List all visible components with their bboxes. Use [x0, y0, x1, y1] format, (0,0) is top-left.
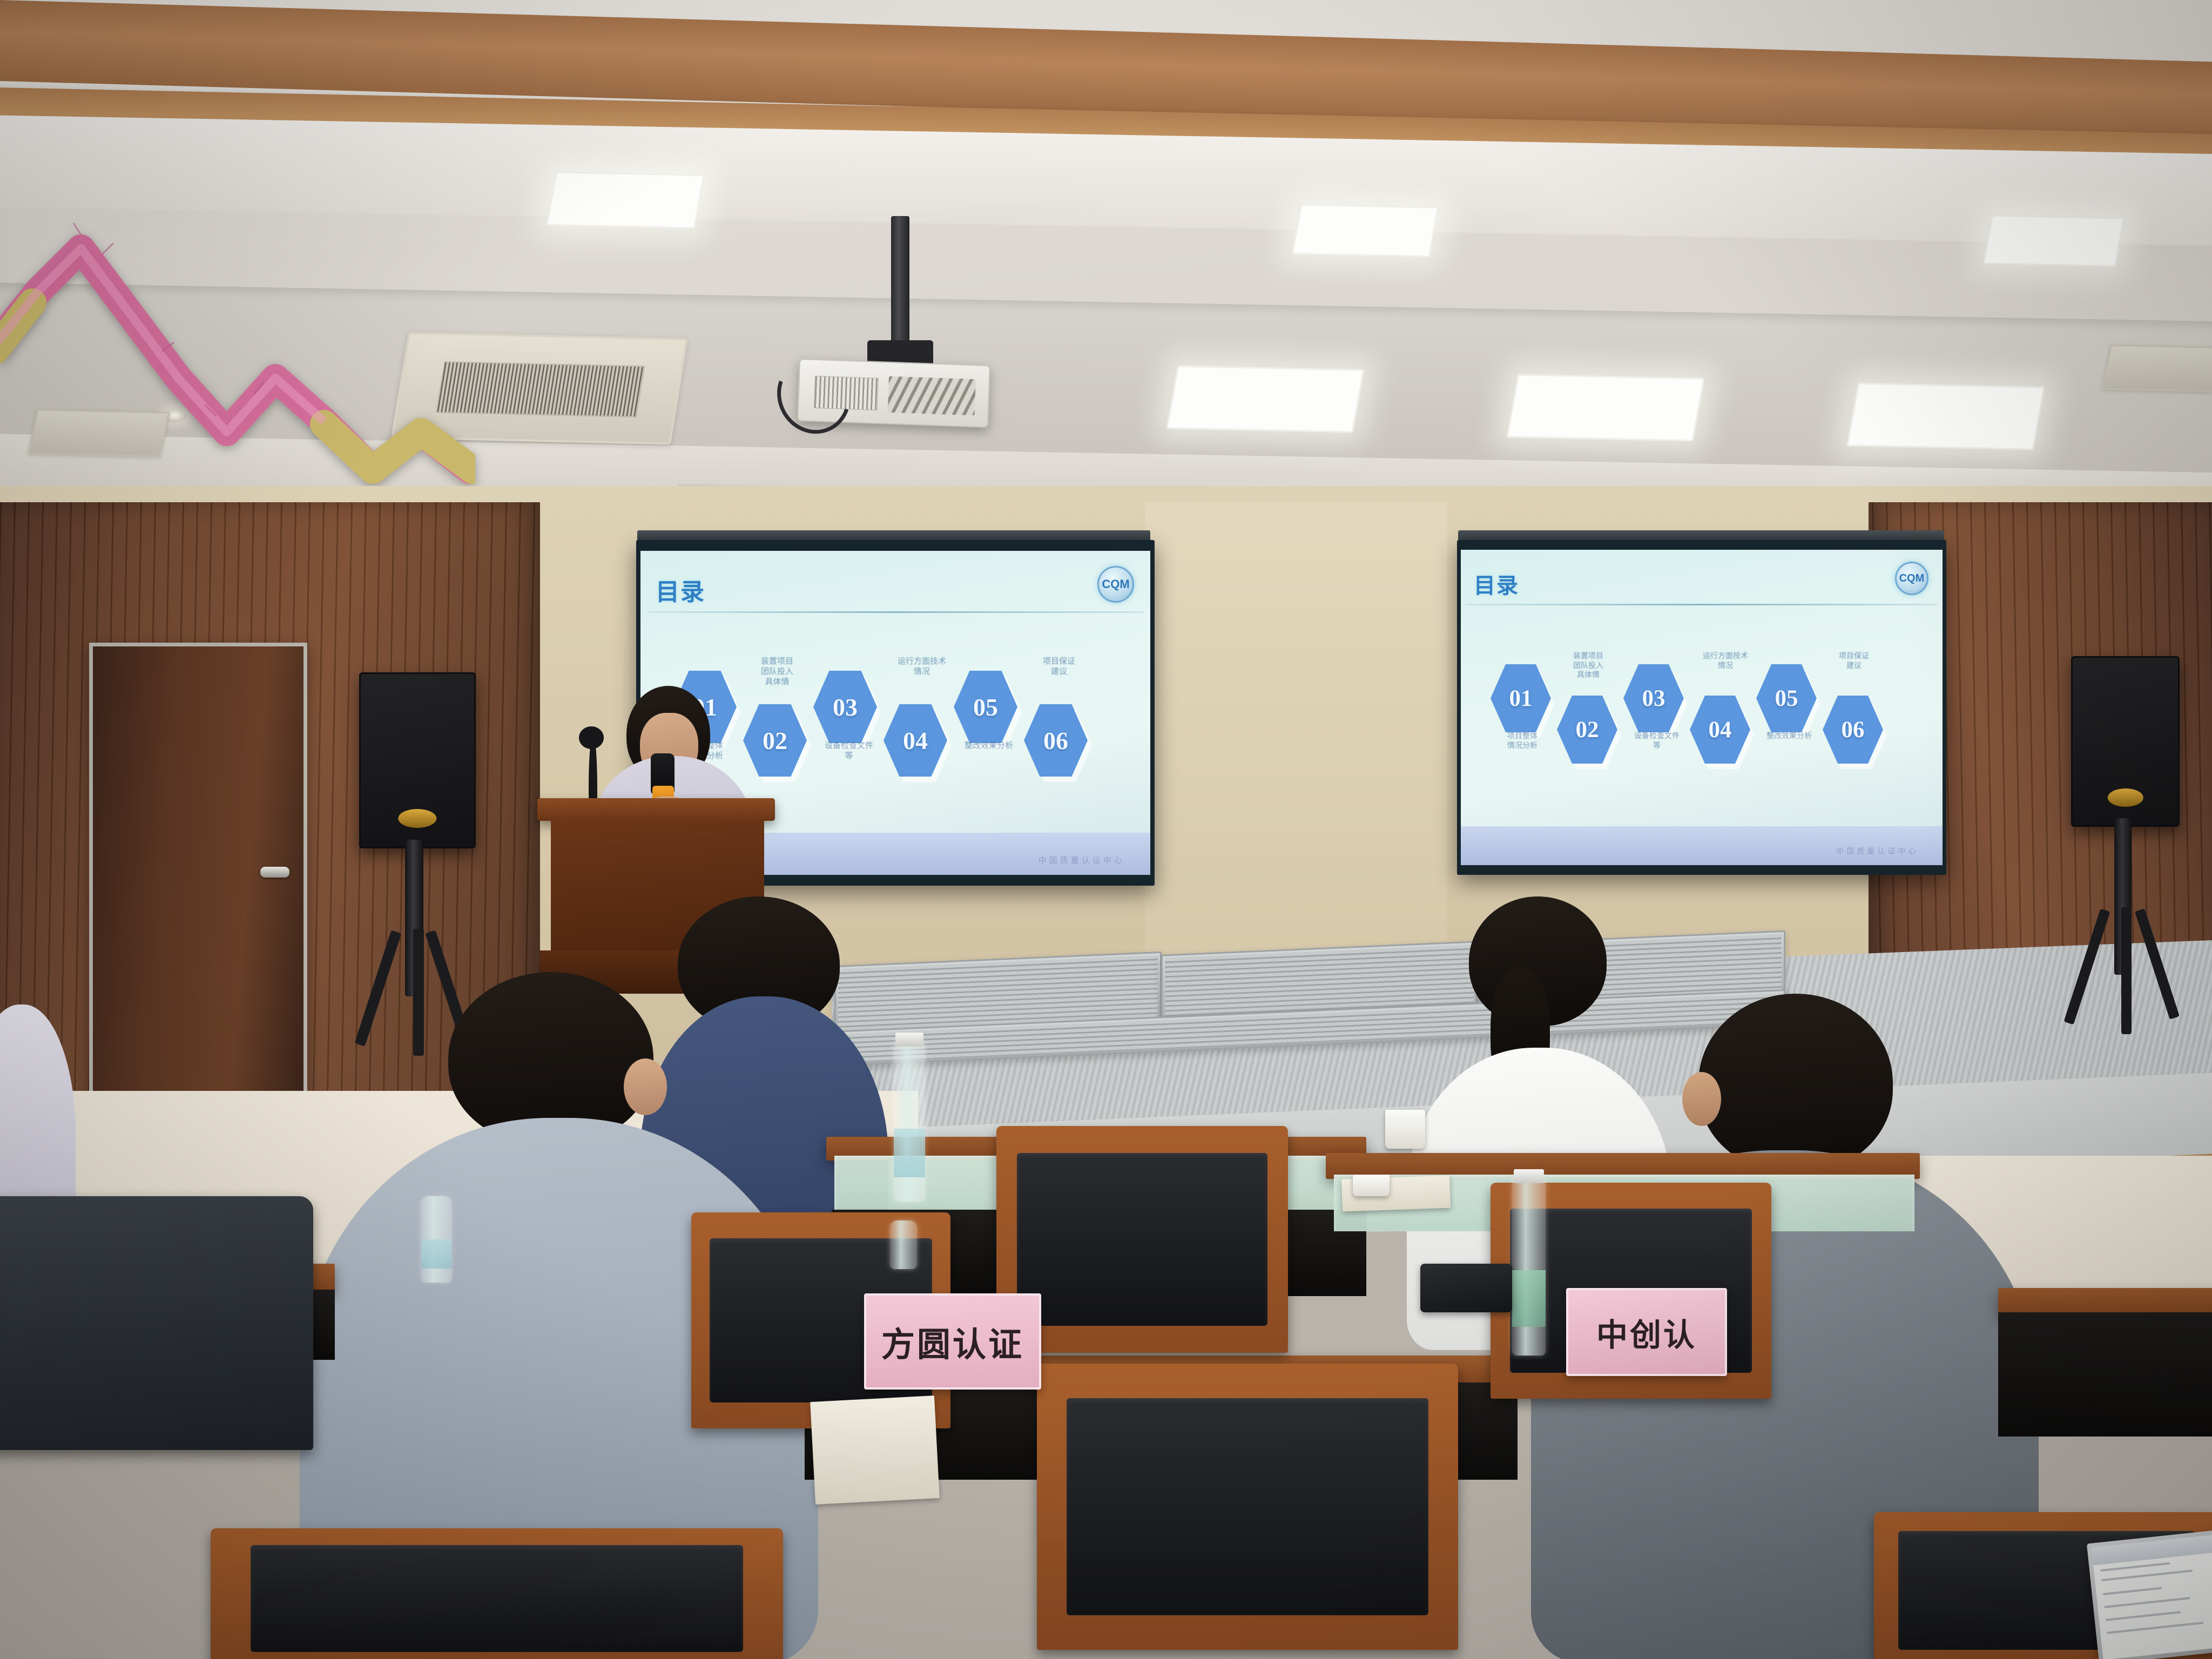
bottle-label	[894, 1129, 925, 1177]
meeting-table-right	[1998, 1288, 2212, 1315]
attendee-ear	[624, 1058, 667, 1115]
attendee-ear	[1682, 1072, 1721, 1126]
pa-speaker-stand-leg	[413, 929, 424, 1056]
chair-backrest-pad	[1067, 1398, 1429, 1616]
hex-label-02-mirror: 装置项目 团队投入 具体情	[1550, 651, 1626, 680]
podium-mic-head	[579, 726, 604, 749]
water-bottle[interactable]	[894, 1040, 925, 1202]
projection-screen-right: 目录 CQM 01 项目整体 情况分析 02 装置项目 团队投入 具体情 03	[1457, 540, 1946, 875]
ceiling-led-panel	[1983, 215, 2125, 267]
tea-cup[interactable]	[1385, 1110, 1425, 1149]
hex-label-01-mirror: 项目整体 情况分析	[1485, 731, 1560, 750]
hex-label-02: 装置项目 团队投入 具体情	[737, 657, 818, 687]
laptop-icon[interactable]	[2087, 1530, 2212, 1659]
ceiling-led-panel	[1292, 204, 1439, 257]
nameplate-zhongchuang: 中创认	[1566, 1288, 1727, 1376]
hex-label-04: 运行方面技术 情况	[876, 657, 968, 677]
hex-label-03: 设备检查文件 等	[806, 741, 892, 761]
water-bottle[interactable]	[890, 1220, 917, 1269]
tea-cup[interactable]	[1353, 1175, 1390, 1196]
nameplate-fangyuan: 方圆认证	[864, 1293, 1041, 1390]
hex-number: 02	[763, 726, 787, 755]
table-apron-right	[1998, 1312, 2212, 1437]
chair-backrest-pad	[1017, 1153, 1267, 1325]
nameplate-text: 中创认	[1596, 1310, 1697, 1355]
notebook[interactable]	[810, 1395, 940, 1505]
door-handle[interactable]	[260, 867, 289, 878]
hex-number: 04	[903, 726, 928, 755]
podium-top	[537, 798, 775, 821]
laptop-screen[interactable]	[2092, 1534, 2212, 1659]
smartphone[interactable]	[1420, 1264, 1512, 1312]
pa-speaker-icon	[2071, 656, 2180, 827]
chair-backrest-pad	[251, 1545, 743, 1652]
attendee-head	[1698, 994, 1893, 1172]
door[interactable]	[89, 643, 307, 1109]
chair[interactable]	[211, 1528, 783, 1659]
pa-speaker-stand-leg	[2121, 907, 2132, 1034]
ceiling-vent-small	[2102, 345, 2212, 392]
tinsel-garland-decoration	[0, 216, 475, 518]
chair[interactable]	[1037, 1364, 1458, 1650]
draped-jacket	[0, 1196, 313, 1450]
ceiling-led-panel	[546, 171, 705, 228]
bottle-cap[interactable]	[895, 1033, 923, 1047]
hex-number: 03	[833, 693, 858, 721]
water-bottle[interactable]	[1512, 1177, 1546, 1355]
hex-label-04-mirror: 运行方面技术 情况	[1682, 651, 1769, 670]
bottle-cap[interactable]	[1514, 1169, 1544, 1183]
projector-mount-pole	[891, 216, 909, 351]
hex-number: 05	[973, 693, 998, 721]
bottle-label	[1512, 1270, 1546, 1327]
bottle-label	[421, 1239, 451, 1269]
pa-speaker-icon	[359, 672, 476, 848]
hex-label-06-mirror: 项目保证 建议	[1816, 651, 1892, 670]
hex-label-03-mirror: 设备检查文件 等	[1616, 731, 1697, 750]
hex-label-05: 整改效果分析	[943, 741, 1035, 751]
conference-room-photo: 目录 CQM 01 项目整体 情况分析 02 装置项目 团队投入 具体情	[0, 0, 2212, 1659]
pa-speaker-badge	[398, 809, 436, 828]
hex-number: 06	[1043, 726, 1068, 755]
hex-label-06: 项目保证 建议	[1019, 657, 1100, 677]
nameplate-text: 方圆认证	[881, 1317, 1024, 1366]
ceiling-led-panel	[1166, 366, 1364, 433]
slide-footer-text: 中国质量认证中心	[1038, 854, 1125, 866]
hex-label-05-mirror: 整改效果分析	[1746, 731, 1832, 741]
slide-footer-text-mirror: 中国质量认证中心	[1836, 846, 1918, 857]
pa-speaker-badge	[2107, 788, 2143, 807]
water-bottle[interactable]	[421, 1196, 451, 1283]
ceiling-led-panel	[1846, 383, 2045, 450]
ceiling-led-panel	[1506, 374, 1704, 442]
